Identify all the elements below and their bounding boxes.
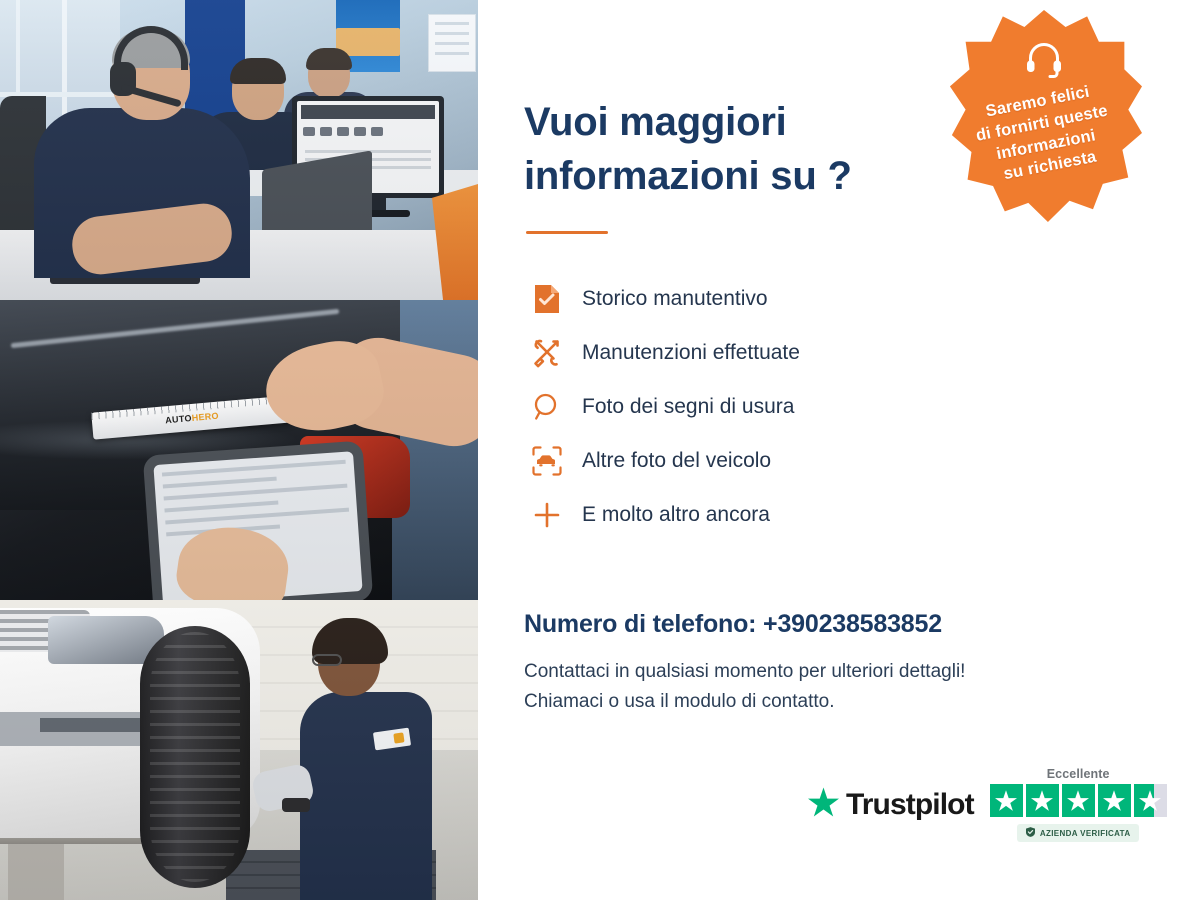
- call-center-photo: [0, 0, 478, 300]
- trustpilot-rating[interactable]: Trustpilot Eccellente: [808, 767, 1167, 842]
- wall-sheet: [428, 14, 476, 72]
- feature-item-storico-manutentivo: Storico manutentivo: [524, 272, 1200, 326]
- feature-label: Manutenzioni effettuate: [582, 341, 800, 365]
- photo-column: AUTOHERO: [0, 0, 478, 900]
- agent-3-hair: [306, 48, 352, 70]
- star-filled-1: [990, 784, 1023, 817]
- feature-item-foto-segni-usura: Foto dei segni di usura: [524, 380, 1200, 434]
- trustpilot-star-icon: [808, 787, 839, 822]
- trustpilot-rating-label: Eccellente: [1047, 767, 1110, 781]
- trustpilot-logo[interactable]: Trustpilot: [808, 787, 974, 822]
- shield-check-icon: [1026, 827, 1035, 839]
- agent-2-hair: [230, 58, 286, 84]
- feature-item-manutenzioni-effettuate: Manutenzioni effettuate: [524, 326, 1200, 380]
- trustpilot-score-block: Eccellente: [990, 767, 1167, 842]
- feature-item-molto-altro: E molto altro ancora: [524, 488, 1200, 542]
- page-title: Vuoi maggiori informazioni su ?: [524, 96, 954, 203]
- feature-list: Storico manutentivo Manutenzioni effettu…: [524, 272, 1200, 542]
- contact-note-line-2: Chiamaci o usa il modulo di contatto.: [524, 691, 835, 712]
- feature-item-altre-foto-veicolo: Altre foto del veicolo: [524, 434, 1200, 488]
- car-lift-post: [8, 844, 64, 900]
- feature-label: Altre foto del veicolo: [582, 449, 771, 473]
- headline-line-1: Vuoi maggiori: [524, 100, 787, 144]
- plus-icon: [524, 500, 570, 530]
- contact-note: Contattaci in qualsiasi momento per ulte…: [524, 657, 1144, 717]
- feature-label: E molto altro ancora: [582, 503, 770, 527]
- document-check-icon: [524, 284, 570, 314]
- workshop-tyre-photo: [0, 600, 478, 900]
- magnifier-icon: [524, 392, 570, 422]
- badge-text: Saremo felici di fornirti queste informa…: [939, 73, 1148, 196]
- contact-note-line-1: Contattaci in qualsiasi momento per ulte…: [524, 661, 965, 682]
- trustpilot-wordmark: Trustpilot: [846, 788, 974, 822]
- car-scan-icon: [524, 445, 570, 477]
- star-filled-3: [1062, 784, 1095, 817]
- headline-line-2: informazioni su ?: [524, 154, 852, 198]
- content-panel: Vuoi maggiori informazioni su ? Storico …: [478, 0, 1200, 900]
- availability-badge: Saremo felici di fornirti queste informa…: [946, 10, 1142, 222]
- tyre-tread: [150, 632, 240, 882]
- vehicle-inspection-photo: AUTOHERO: [0, 300, 478, 600]
- star-partial-5: [1134, 784, 1167, 817]
- mechanic-watch: [282, 798, 310, 812]
- verified-company-badge: AZIENDA VERIFICATA: [1017, 824, 1140, 842]
- promo-page: AUTOHERO: [0, 0, 1200, 900]
- mechanic-glasses-icon: [312, 654, 342, 666]
- verified-badge-label: AZIENDA VERIFICATA: [1040, 829, 1131, 838]
- feature-label: Foto dei segni di usura: [582, 395, 794, 419]
- feature-label: Storico manutentivo: [582, 287, 768, 311]
- title-underline-rule: [526, 231, 608, 234]
- star-filled-4: [1098, 784, 1131, 817]
- star-rating: [990, 784, 1167, 817]
- phone-number-line: Numero di telefono: +390238583852: [524, 610, 1200, 639]
- star-filled-2: [1026, 784, 1059, 817]
- mechanic-body: [300, 692, 432, 900]
- crossed-tools-icon: [524, 337, 570, 369]
